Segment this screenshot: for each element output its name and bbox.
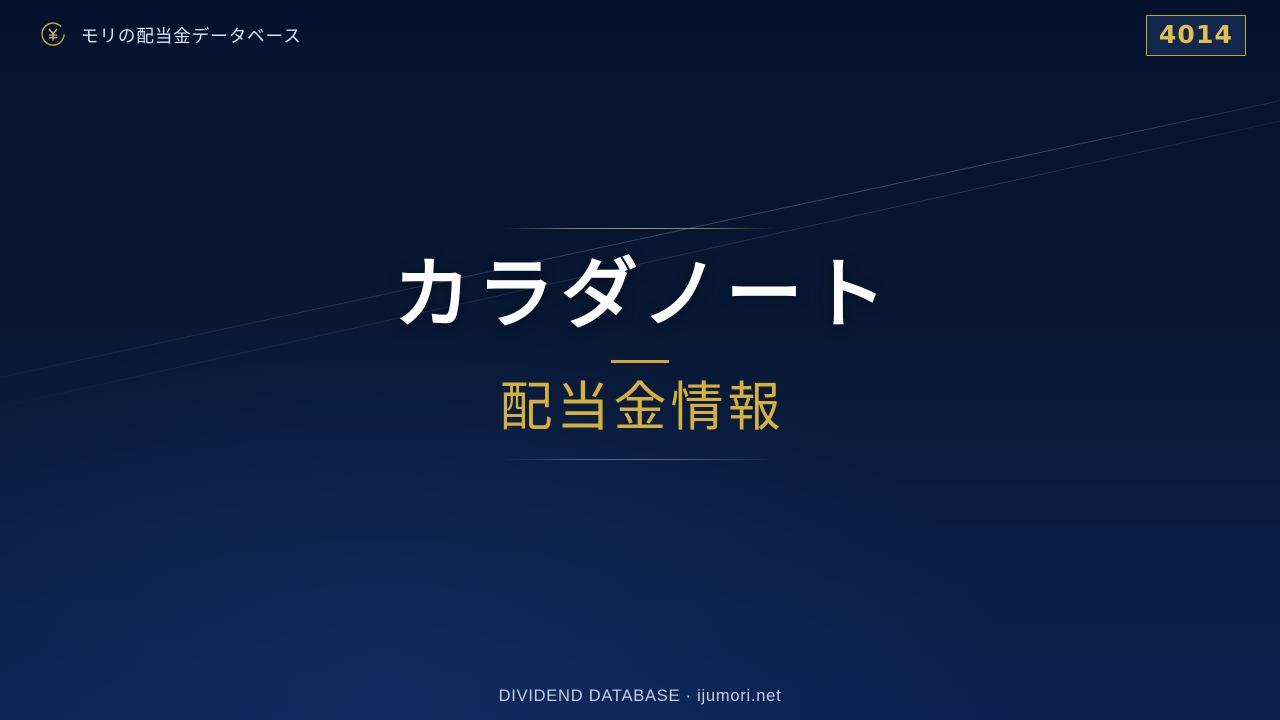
company-title: カラダノート: [387, 255, 893, 336]
footer-attribution: DIVIDEND DATABASE · ijumori.net: [499, 687, 782, 705]
brand-lockup[interactable]: モリの配当金データベース: [38, 20, 302, 50]
title-card: モリの配当金データベース 4014 カラダノート 配当金情報 DIVIDEND …: [0, 0, 1280, 720]
title-block: カラダノート 配当金情報: [0, 228, 1280, 460]
title-rule-top: [506, 228, 774, 229]
ticker-code-badge: 4014: [1146, 15, 1246, 56]
page-footer: DIVIDEND DATABASE · ijumori.net: [0, 687, 1280, 706]
yen-circle-icon: [38, 20, 68, 50]
page-header: モリの配当金データベース 4014: [0, 0, 1280, 70]
subtitle-rule-bottom: [504, 459, 776, 460]
gold-divider: [611, 360, 669, 363]
section-subtitle: 配当金情報: [496, 377, 785, 440]
brand-name-label: モリの配当金データベース: [81, 23, 302, 48]
